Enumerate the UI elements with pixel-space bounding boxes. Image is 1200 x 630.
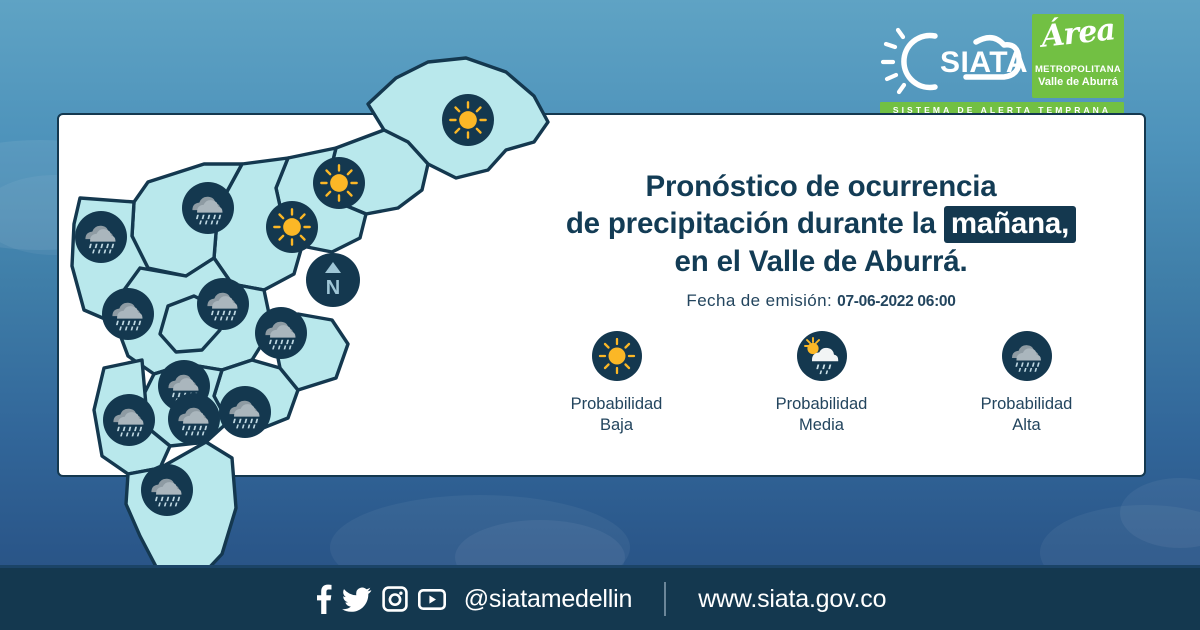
footer-bar: @siatamedellin www.siata.gov.co (0, 568, 1200, 630)
youtube-icon[interactable] (418, 589, 446, 610)
compass-north-icon: N (306, 253, 360, 307)
siata-logo: SIATA (880, 20, 1030, 98)
issue-date: Fecha de emisión:07-06-2022 06:00 (511, 291, 1131, 311)
map-marker-rain-cloud-m11[interactable] (168, 393, 220, 445)
legend-baja-line1: Probabilidad (571, 395, 663, 413)
background-cloud-6 (1120, 478, 1200, 548)
area-metropolitana-logo: Área METROPOLITANA Valle de Aburrá (1032, 14, 1124, 98)
legend-media-line2: Media (799, 416, 844, 434)
social-handle[interactable]: @siatamedellin (464, 585, 633, 614)
map-marker-rain-cloud-m13[interactable] (141, 464, 193, 516)
map-marker-sun-m02[interactable] (313, 157, 365, 209)
legend-baja-line2: Baja (600, 416, 633, 434)
issue-date-value: 07-06-2022 06:00 (837, 293, 955, 310)
footer-divider (664, 582, 666, 616)
sun-rain-cloud-icon (797, 331, 847, 381)
page-title: Pronóstico de ocurrencia de precipitació… (511, 168, 1131, 280)
legend-alta-line1: Probabilidad (981, 395, 1073, 413)
legend-item-alta: Probabilidad Alta (942, 331, 1112, 437)
map-marker-rain-cloud-m12[interactable] (219, 386, 271, 438)
svg-text:N: N (326, 277, 340, 299)
twitter-icon[interactable] (342, 584, 372, 614)
instagram-icon[interactable] (382, 586, 408, 612)
sun-icon (592, 331, 642, 381)
legend-label-alta: Probabilidad Alta (942, 394, 1112, 437)
map-marker-sun-m03[interactable] (266, 201, 318, 253)
valle-de-aburra-map: N (36, 38, 576, 598)
map-marker-rain-cloud-m07[interactable] (197, 278, 249, 330)
social-icons (314, 584, 446, 614)
area-logo-line1: METROPOLITANA (1032, 64, 1124, 75)
legend-label-media: Probabilidad Media (737, 394, 907, 437)
poster-root: SIATA Área METROPOLITANA Valle de Aburrá… (0, 0, 1200, 630)
area-logo-script: Área (1032, 14, 1124, 56)
facebook-icon[interactable] (314, 584, 332, 614)
legend-item-media: Probabilidad Media (737, 331, 907, 437)
map-marker-rain-cloud-m04[interactable] (182, 182, 234, 234)
map-marker-rain-cloud-m05[interactable] (75, 211, 127, 263)
headline-line-1: Pronóstico de ocurrencia (646, 170, 997, 203)
map-marker-sun-m01[interactable] (442, 94, 494, 146)
map-marker-rain-cloud-m08[interactable] (255, 307, 307, 359)
issue-date-label: Fecha de emisión: (686, 291, 832, 310)
probability-legend: Probabilidad Baja (514, 331, 1129, 437)
legend-media-line1: Probabilidad (776, 395, 868, 413)
website-url[interactable]: www.siata.gov.co (698, 585, 886, 614)
headline-line-3: en el Valle de Aburrá. (675, 245, 968, 278)
map-marker-rain-cloud-m06[interactable] (102, 288, 154, 340)
brand-logos: SIATA Área METROPOLITANA Valle de Aburrá… (880, 14, 1120, 114)
svg-text:SIATA: SIATA (940, 46, 1028, 79)
headline-line-2: de precipitación durante la (566, 207, 936, 240)
map-marker-rain-cloud-m10[interactable] (103, 394, 155, 446)
headline-highlight: mañana, (944, 206, 1076, 243)
area-logo-line2: Valle de Aburrá (1032, 76, 1124, 88)
rain-cloud-icon (1002, 331, 1052, 381)
legend-alta-line2: Alta (1012, 416, 1040, 434)
